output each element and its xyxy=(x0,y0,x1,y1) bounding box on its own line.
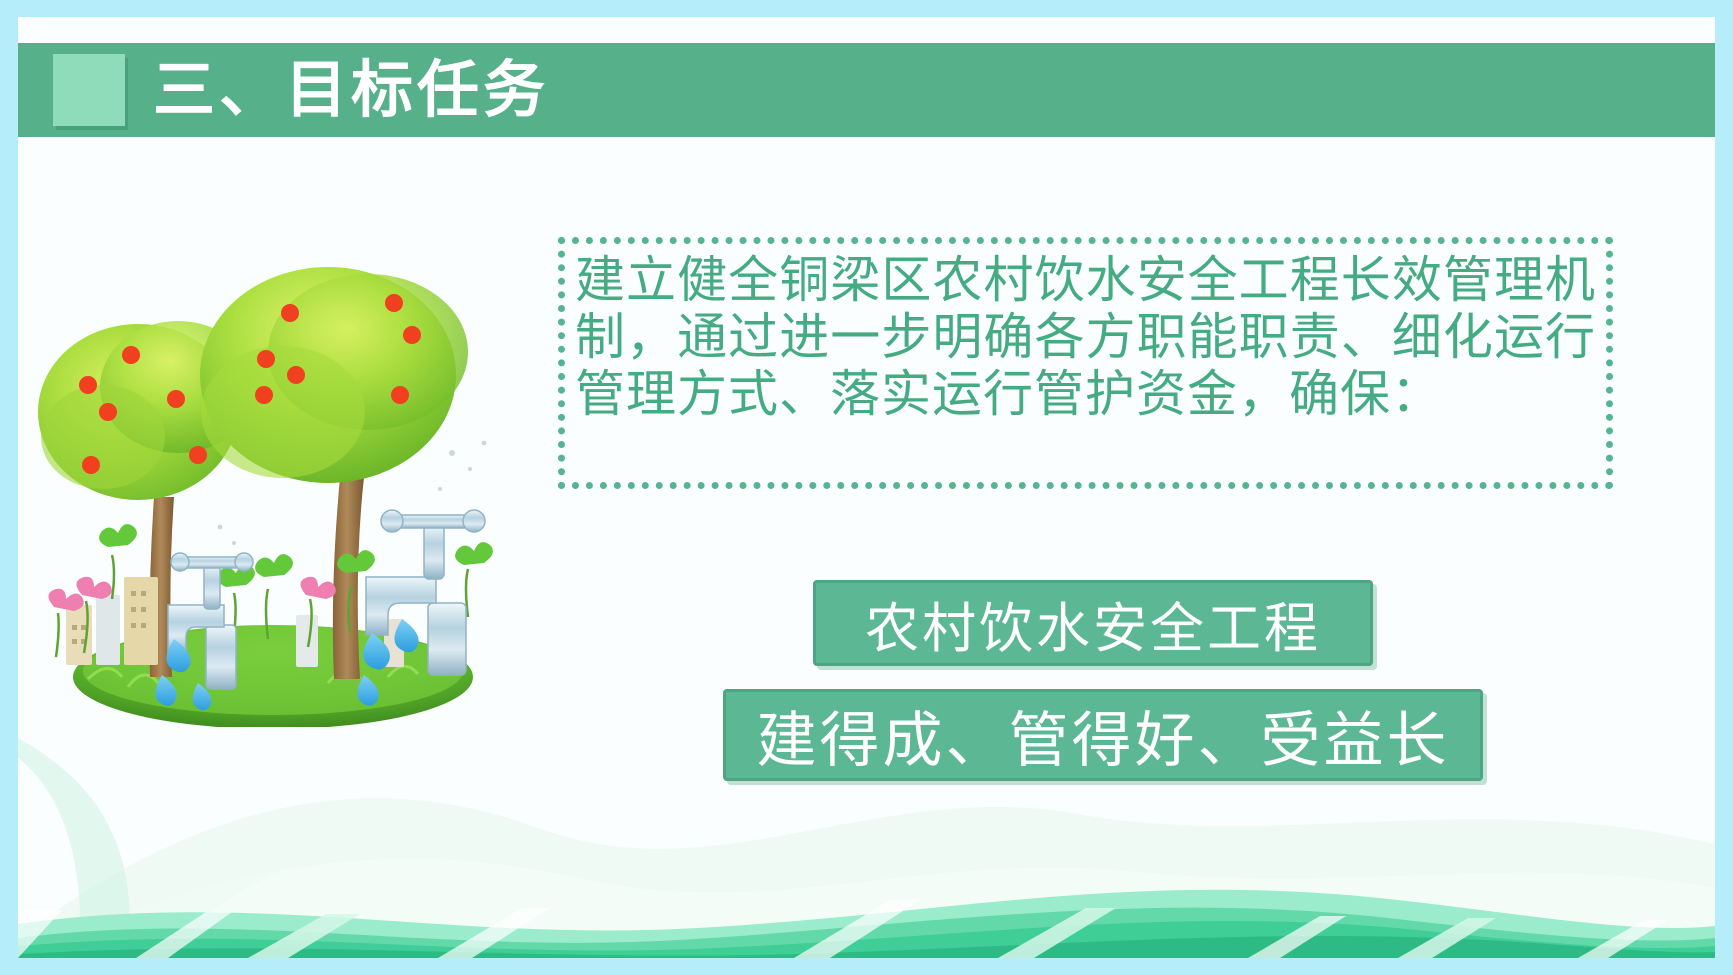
trees-and-faucets-illustration xyxy=(28,247,518,727)
highlight-box-project-name: 农村饮水安全工程 xyxy=(813,580,1373,666)
goal-statement-box: 建立健全铜梁区农村饮水安全工程长效管理机制，通过进一步明确各方职能职责、细化运行… xyxy=(558,237,1613,489)
slide-canvas: 三、目标任务 xyxy=(18,17,1715,958)
header-banner: 三、目标任务 xyxy=(18,43,1715,137)
slide-frame: 三、目标任务 xyxy=(0,0,1733,975)
page-title: 三、目标任务 xyxy=(153,59,549,121)
goal-statement-text: 建立健全铜梁区农村饮水安全工程长效管理机制，通过进一步明确各方职能职责、细化运行… xyxy=(575,252,1596,423)
highlight-box-slogan: 建得成、管得好、受益长 xyxy=(723,689,1483,781)
square-marker-icon xyxy=(53,54,125,126)
